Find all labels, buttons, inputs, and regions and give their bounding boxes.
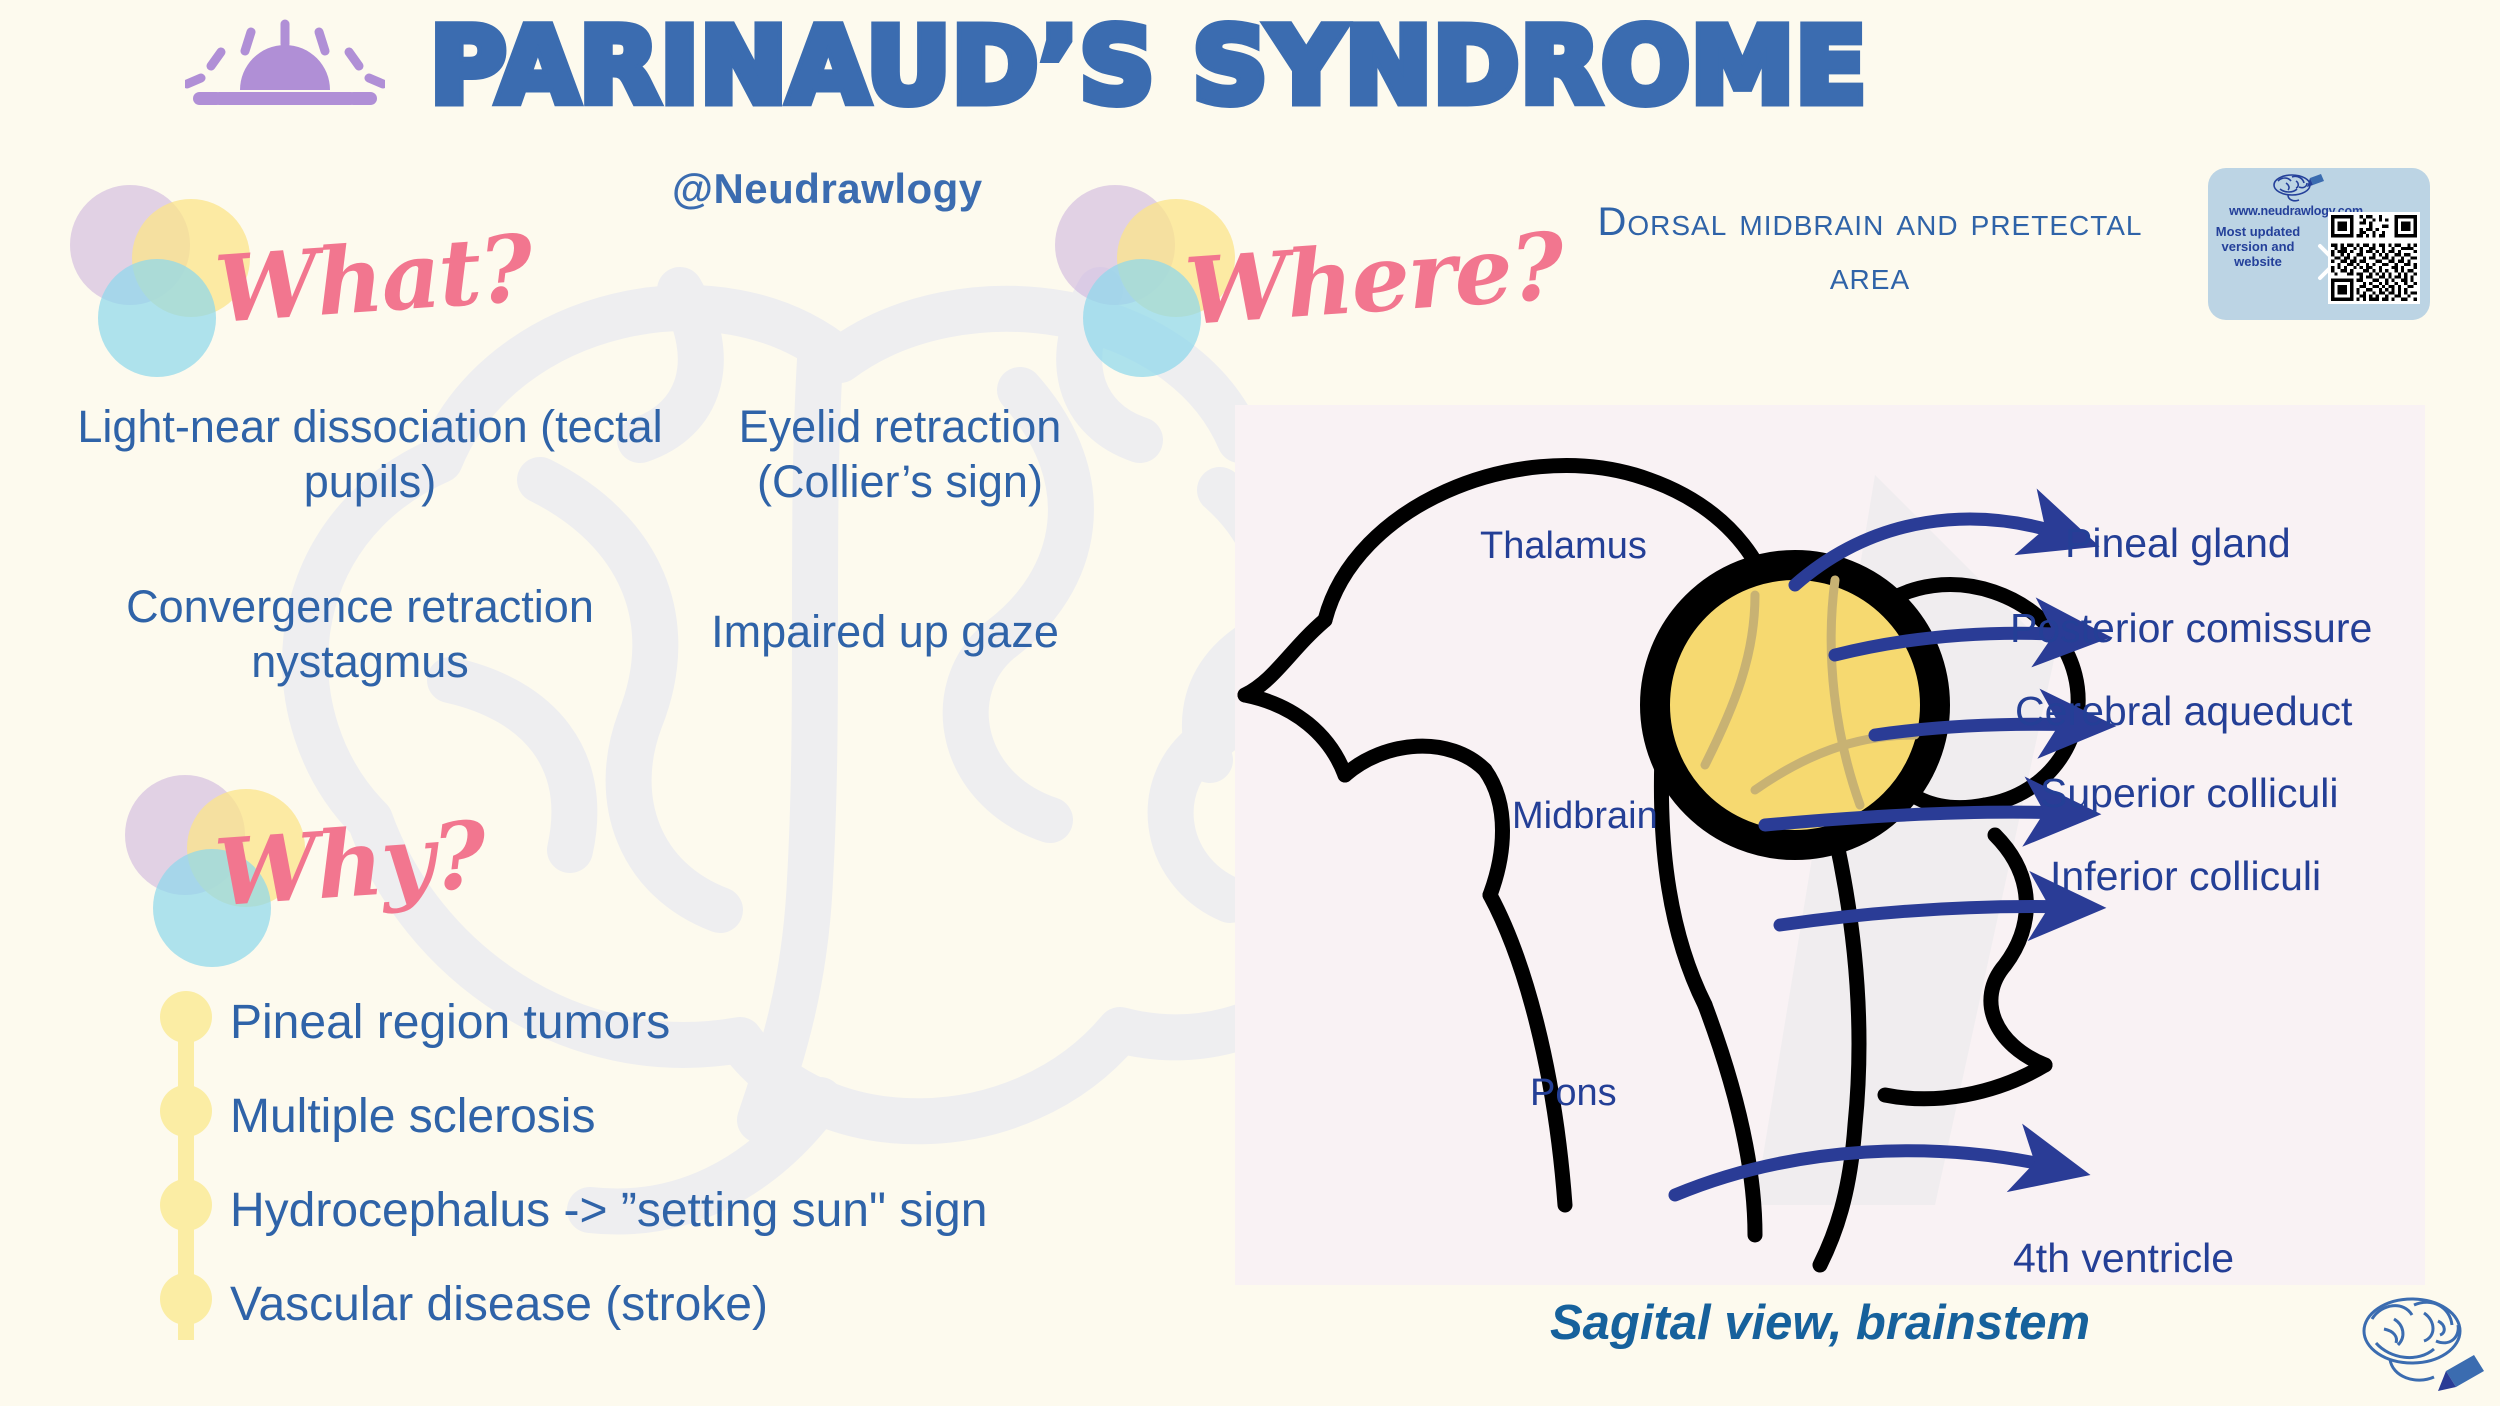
list-item: Pineal region tumors [160,975,1180,1069]
bullet-dot [160,991,212,1043]
why-causes-list: Pineal region tumors Multiple sclerosis … [160,975,1180,1351]
page-title: PARINAUD’S SYNDROME [430,12,1867,121]
cause-label: Pineal region tumors [230,995,670,1050]
bullet-dot [160,1273,212,1325]
list-item: Hydrocephalus -> ”setting sun" sign [160,1163,1180,1257]
symptom-item: Eyelid retraction (Collier’s sign) [690,400,1110,510]
cause-label: Hydrocephalus -> ”setting sun" sign [230,1183,987,1238]
list-item: Vascular disease (stroke) [160,1257,1180,1351]
circle-blue [1083,259,1201,377]
website-qr-badge[interactable]: www.neudrawlogy.com Most updated version… [2208,168,2430,320]
arrow-label-fourth-ventricle: 4th ventricle [2013,1235,2234,1282]
cause-label: Vascular disease (stroke) [230,1277,768,1332]
arrow-label-inferior-colliculi: Inferior colliculi [2050,853,2321,900]
bullet-dot [160,1085,212,1137]
arrow-label-posterior-comissure: Posterior comissure [2010,605,2372,652]
arrow-label-pineal-gland: Pineal gland [2065,520,2291,567]
symptom-item: Light-near dissociation (tectal pupils) [60,400,680,510]
bullet-dot [160,1179,212,1231]
qr-code-icon[interactable] [2328,212,2420,304]
diagram-label-thalamus: Thalamus [1480,525,1647,568]
arrow-label-cerebral-aqueduct: Cerebral aqueduct [2015,688,2352,735]
badge-tagline: Most updated version and website [2212,224,2304,269]
list-item: Multiple sclerosis [160,1069,1180,1163]
infographic-canvas: PARINAUD’S SYNDROME @Neudrawlogy www.neu… [0,0,2500,1406]
brain-pencil-logo-icon [2350,1285,2490,1395]
brain-pencil-icon [2266,172,2334,206]
where-subtitle: Dorsal midbrain and pretectal area [1590,195,2150,303]
diagram-caption: Sagital view, brainstem [1550,1295,2090,1351]
sunrise-icon [185,18,385,113]
circle-blue [98,259,216,377]
symptom-item: Impaired up gaze [670,605,1100,660]
diagram-label-midbrain: Midbrain [1512,795,1658,838]
author-handle: @Neudrawlogy [672,165,983,213]
cause-label: Multiple sclerosis [230,1089,595,1144]
arrow-label-superior-colliculi: Superior colliculi [2040,770,2339,817]
what-heading: What? [212,214,535,344]
diagram-label-pons: Pons [1530,1072,1617,1115]
why-heading: Why? [212,801,488,928]
symptom-item: Convergence retraction nystagmus [50,580,670,690]
